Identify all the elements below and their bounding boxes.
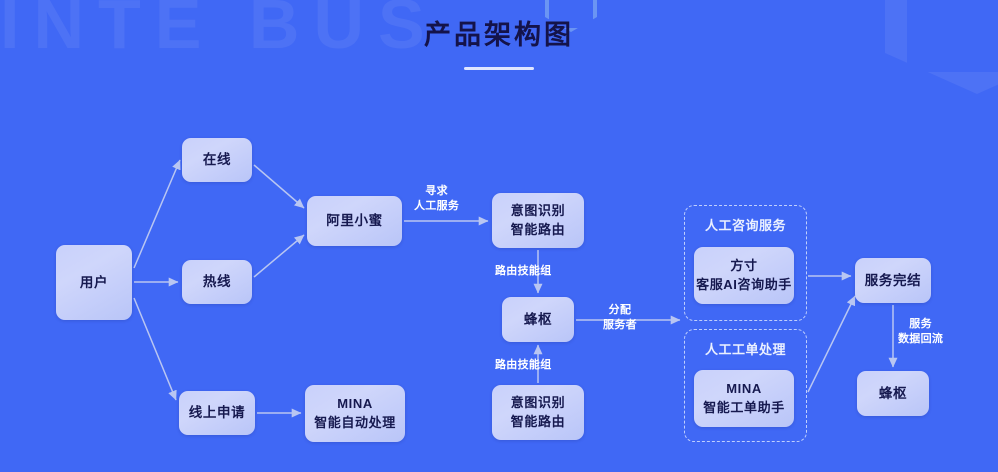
edge-online-ali <box>254 165 304 208</box>
node-label-line: 客服AI咨询助手 <box>696 276 792 295</box>
edge-user-online <box>134 160 180 268</box>
group-label: 人工工单处理 <box>685 339 806 358</box>
node-label-line: 在线 <box>203 150 231 170</box>
node-label-line: 智能工单助手 <box>703 399 785 418</box>
node-fengshu1[interactable]: 蜂枢 <box>502 297 574 342</box>
diagram-canvas: INTE BUS 产品架构图 人工咨询服务人工工单处理 用户在线热线线上申请阿里… <box>0 0 998 472</box>
node-hotline[interactable]: 热线 <box>182 260 252 304</box>
node-label-line: 意图识别 <box>511 202 565 221</box>
node-alixiaomi[interactable]: 阿里小蜜 <box>307 196 402 246</box>
node-online[interactable]: 在线 <box>182 138 252 182</box>
edge-hotline-ali <box>254 235 304 277</box>
node-apply[interactable]: 线上申请 <box>179 391 255 435</box>
node-label-line: 阿里小蜜 <box>326 211 382 231</box>
node-mina-auto[interactable]: MINA智能自动处理 <box>305 385 405 442</box>
node-intent1[interactable]: 意图识别智能路由 <box>492 193 584 248</box>
node-user[interactable]: 用户 <box>56 245 132 320</box>
node-mina-ticket[interactable]: MINA智能工单助手 <box>694 370 794 427</box>
node-fengshu2[interactable]: 蜂枢 <box>857 371 929 416</box>
group-label: 人工咨询服务 <box>685 215 806 234</box>
node-label-line: 蜂枢 <box>524 310 552 330</box>
edge-ticket-complete <box>808 296 855 392</box>
node-label-line: 方寸 <box>730 257 757 276</box>
node-label-line: 意图识别 <box>511 394 565 413</box>
node-label-line: 智能路由 <box>511 413 565 432</box>
node-label-line: 热线 <box>203 272 231 292</box>
node-label-line: 用户 <box>80 273 108 293</box>
edge-user-apply <box>134 298 176 400</box>
node-complete[interactable]: 服务完结 <box>855 258 931 303</box>
node-label-line: 服务完结 <box>865 271 921 291</box>
node-label-line: MINA <box>726 380 762 399</box>
node-label-line: 蜂枢 <box>879 384 907 404</box>
node-label-line: 智能路由 <box>511 221 565 240</box>
node-label-line: 智能自动处理 <box>314 414 396 433</box>
node-label-line: MINA <box>337 395 373 414</box>
node-label-line: 线上申请 <box>189 403 245 423</box>
node-fangcun[interactable]: 方寸客服AI咨询助手 <box>694 247 794 304</box>
node-intent2[interactable]: 意图识别智能路由 <box>492 385 584 440</box>
